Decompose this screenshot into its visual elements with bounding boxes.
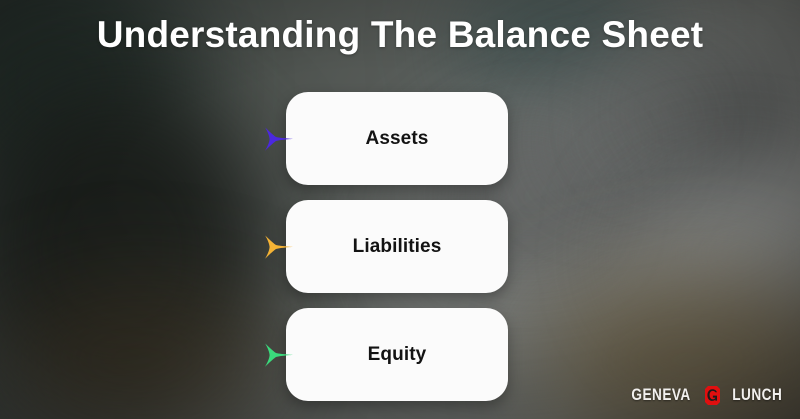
card-label: Liabilities xyxy=(353,236,442,258)
list-item: Equity xyxy=(286,308,508,401)
slide-canvas: Understanding The Balance Sheet Assets L… xyxy=(0,0,800,419)
list-item: Liabilities xyxy=(286,200,508,293)
arrow-liabilities-icon xyxy=(262,230,296,264)
logo-badge-icon xyxy=(703,385,722,406)
card-assets[interactable]: Assets xyxy=(286,92,508,185)
logo-word-left: GENEVA xyxy=(632,385,691,405)
brand-logo[interactable]: GENEVA LUNCH xyxy=(624,384,788,406)
card-equity[interactable]: Equity xyxy=(286,308,508,401)
card-label: Assets xyxy=(366,128,429,150)
card-liabilities[interactable]: Liabilities xyxy=(286,200,508,293)
arrow-assets-icon xyxy=(262,122,296,156)
card-label: Equity xyxy=(368,344,427,366)
balance-sheet-card-list: Assets Liabilities Equity xyxy=(286,92,508,401)
logo-word-right: LUNCH xyxy=(732,385,782,405)
page-title: Understanding The Balance Sheet xyxy=(0,14,800,56)
list-item: Assets xyxy=(286,92,508,185)
arrow-equity-icon xyxy=(262,338,296,372)
